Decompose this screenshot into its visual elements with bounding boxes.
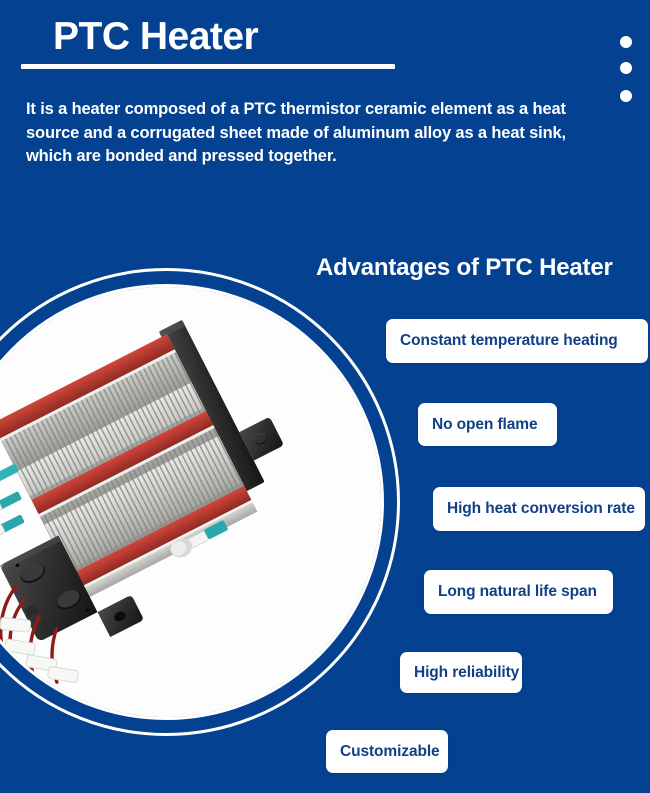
- advantage-pill: High reliability: [400, 652, 522, 693]
- advantage-label: Long natural life span: [438, 583, 597, 601]
- advantage-pill: Customizable: [326, 730, 448, 773]
- advantage-label: Customizable: [340, 743, 440, 761]
- ptc-heater-banner: PTC Heater It is a heater composed of a …: [0, 0, 650, 793]
- decor-dot-icon: [620, 36, 632, 48]
- advantage-label: High reliability: [414, 664, 519, 682]
- product-image-frame: [0, 268, 400, 736]
- advantage-pill: Long natural life span: [424, 570, 613, 614]
- product-description: It is a heater composed of a PTC thermis…: [26, 98, 581, 169]
- advantage-label: No open flame: [432, 416, 538, 434]
- page-title: PTC Heater: [53, 14, 258, 60]
- advantage-pill: Constant temperature heating: [386, 319, 648, 363]
- title-divider: [21, 64, 395, 69]
- advantage-label: High heat conversion rate: [447, 500, 635, 518]
- advantage-label: Constant temperature heating: [400, 332, 618, 350]
- advantage-pill: No open flame: [418, 403, 557, 446]
- decor-dot-icon: [620, 90, 632, 102]
- advantage-pill: High heat conversion rate: [433, 487, 645, 531]
- decor-dot-icon: [620, 62, 632, 74]
